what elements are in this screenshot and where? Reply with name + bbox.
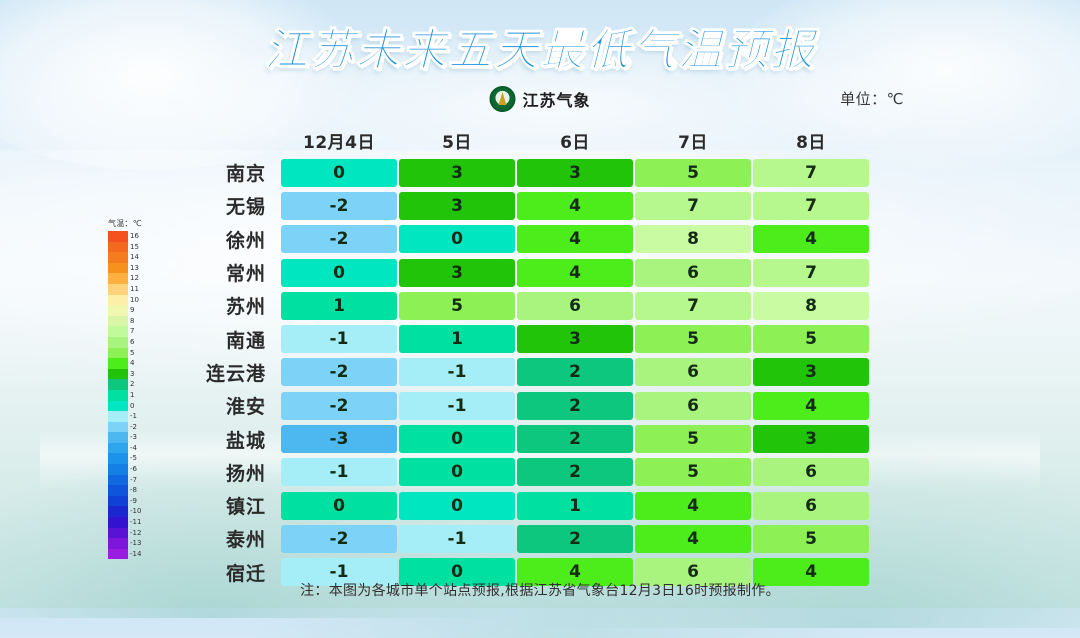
legend-tick-label: 6	[130, 337, 141, 348]
legend-tick-label: -14	[130, 549, 141, 560]
temperature-cell: 0	[281, 159, 397, 187]
brand-logo: 江苏气象	[489, 86, 590, 112]
temperature-color-legend: 气温：℃ 161514131211109876543210-1-2-3-4-5-…	[108, 218, 164, 559]
legend-tick-label: -11	[130, 517, 141, 528]
table-row: 南京03357	[198, 156, 870, 189]
temperature-cell: 1	[281, 292, 397, 320]
temperature-cell: 2	[517, 392, 633, 420]
legend-swatch	[108, 252, 128, 263]
column-header-1: 5日	[398, 128, 516, 153]
temperature-cell: 4	[517, 225, 633, 253]
temperature-cell: 6	[635, 358, 751, 386]
temperature-cell: 8	[635, 225, 751, 253]
legend-swatch	[108, 369, 128, 380]
temperature-cell: 5	[753, 525, 869, 553]
forecast-table: 12月4日 5日 6日 7日 8日 南京03357无锡-23477徐州-2048…	[198, 124, 870, 589]
column-header-0: 12月4日	[280, 128, 398, 153]
legend-swatch	[108, 475, 128, 486]
temperature-cell: 0	[281, 259, 397, 287]
legend-tick-label: 16	[130, 231, 141, 242]
temperature-cell: 6	[753, 492, 869, 520]
legend-swatch	[108, 284, 128, 295]
legend-tick-label: 1	[130, 390, 141, 401]
legend-swatch	[108, 305, 128, 316]
legend-tick-label: 5	[130, 348, 141, 359]
legend-tick-label: 0	[130, 401, 141, 412]
legend-tick-label: -8	[130, 485, 141, 496]
legend-swatch	[108, 326, 128, 337]
table-row: 镇江00146	[198, 489, 870, 522]
table-row: 连云港-2-1263	[198, 356, 870, 389]
temperature-cell: -1	[281, 458, 397, 486]
legend-tick-label: -6	[130, 464, 141, 475]
temperature-cell: 0	[399, 458, 515, 486]
legend-swatch	[108, 464, 128, 475]
legend-body: 161514131211109876543210-1-2-3-4-5-6-7-8…	[108, 231, 164, 559]
temperature-cell: 1	[399, 325, 515, 353]
row-city-label: 苏州	[198, 292, 280, 319]
legend-swatch	[108, 401, 128, 412]
legend-tick-label: -4	[130, 443, 141, 454]
temperature-cell: 3	[517, 325, 633, 353]
temperature-cell: 0	[281, 492, 397, 520]
legend-tick-label: 13	[130, 263, 141, 274]
table-row: 南通-11355	[198, 322, 870, 355]
row-city-label: 南京	[198, 159, 280, 186]
temperature-cell: 0	[399, 492, 515, 520]
legend-labels: 161514131211109876543210-1-2-3-4-5-6-7-8…	[130, 231, 141, 559]
temperature-cell: 4	[517, 259, 633, 287]
temperature-cell: -1	[399, 525, 515, 553]
legend-swatch	[108, 263, 128, 274]
temperature-cell: 4	[635, 525, 751, 553]
table-body: 南京03357无锡-23477徐州-20484常州03467苏州15678南通-…	[198, 156, 870, 589]
temperature-cell: 6	[753, 458, 869, 486]
legend-swatch	[108, 390, 128, 401]
page-title: 江苏未来五天最低气温预报	[0, 14, 1080, 78]
legend-tick-label: 12	[130, 273, 141, 284]
legend-swatch	[108, 549, 128, 560]
legend-tick-label: 3	[130, 369, 141, 380]
row-city-label: 盐城	[198, 426, 280, 453]
temperature-cell: 3	[517, 159, 633, 187]
temperature-cell: 3	[399, 259, 515, 287]
legend-tick-label: -9	[130, 496, 141, 507]
temperature-cell: 4	[753, 225, 869, 253]
legend-tick-label: 2	[130, 379, 141, 390]
table-header-row: 12月4日 5日 6日 7日 8日	[198, 124, 870, 156]
row-city-label: 扬州	[198, 459, 280, 486]
legend-swatch	[108, 422, 128, 433]
temperature-cell: 5	[635, 458, 751, 486]
legend-tick-label: 11	[130, 284, 141, 295]
temperature-cell: -1	[399, 392, 515, 420]
table-row: 无锡-23477	[198, 189, 870, 222]
temperature-cell: -2	[281, 358, 397, 386]
legend-swatch	[108, 273, 128, 284]
temperature-cell: -1	[399, 358, 515, 386]
row-city-label: 徐州	[198, 226, 280, 253]
jiangsu-meteorology-emblem-icon	[489, 86, 515, 112]
legend-swatches	[108, 231, 128, 559]
temperature-cell: 5	[635, 325, 751, 353]
temperature-cell: 3	[753, 425, 869, 453]
temperature-cell: 6	[635, 392, 751, 420]
legend-tick-label: -13	[130, 538, 141, 549]
temperature-cell: 0	[399, 425, 515, 453]
legend-swatch	[108, 538, 128, 549]
legend-tick-label: 14	[130, 252, 141, 263]
table-row: 盐城-30253	[198, 422, 870, 455]
row-city-label: 常州	[198, 259, 280, 286]
row-city-label: 无锡	[198, 192, 280, 219]
unit-label: 单位：℃	[840, 88, 904, 109]
brand-logo-label: 江苏气象	[522, 87, 590, 111]
temperature-cell: 5	[635, 159, 751, 187]
column-header-3: 7日	[634, 128, 752, 153]
table-row: 苏州15678	[198, 289, 870, 322]
temperature-cell: 7	[753, 192, 869, 220]
row-city-label: 南通	[198, 326, 280, 353]
temperature-cell: 0	[399, 225, 515, 253]
row-city-label: 泰州	[198, 525, 280, 552]
temperature-cell: 2	[517, 458, 633, 486]
legend-swatch	[108, 411, 128, 422]
temperature-cell: 3	[753, 358, 869, 386]
legend-swatch	[108, 231, 128, 242]
temperature-cell: -1	[281, 325, 397, 353]
row-city-label: 淮安	[198, 392, 280, 419]
temperature-cell: 3	[399, 192, 515, 220]
row-city-label: 镇江	[198, 492, 280, 519]
legend-swatch	[108, 337, 128, 348]
temperature-cell: 2	[517, 358, 633, 386]
legend-swatch	[108, 517, 128, 528]
legend-tick-label: 10	[130, 295, 141, 306]
legend-tick-label: -10	[130, 506, 141, 517]
legend-tick-label: -3	[130, 432, 141, 443]
legend-tick-label: -7	[130, 475, 141, 486]
legend-swatch	[108, 242, 128, 253]
column-header-2: 6日	[516, 128, 634, 153]
legend-swatch	[108, 528, 128, 539]
legend-tick-label: -1	[130, 411, 141, 422]
temperature-cell: -2	[281, 192, 397, 220]
legend-swatch	[108, 358, 128, 369]
temperature-cell: 7	[753, 159, 869, 187]
legend-tick-label: 8	[130, 316, 141, 327]
temperature-cell: 1	[517, 492, 633, 520]
temperature-cell: 7	[635, 192, 751, 220]
temperature-cell: 2	[517, 425, 633, 453]
legend-swatch	[108, 453, 128, 464]
legend-swatch	[108, 443, 128, 454]
legend-tick-label: 4	[130, 358, 141, 369]
temperature-cell: 5	[753, 325, 869, 353]
temperature-cell: 3	[399, 159, 515, 187]
legend-swatch	[108, 496, 128, 507]
legend-title: 气温：℃	[108, 218, 164, 229]
legend-swatch	[108, 432, 128, 443]
legend-swatch	[108, 506, 128, 517]
temperature-cell: 5	[635, 425, 751, 453]
temperature-cell: -2	[281, 392, 397, 420]
temperature-cell: 2	[517, 525, 633, 553]
temperature-cell: -3	[281, 425, 397, 453]
footnote: 注：本图为各城市单个站点预报,根据江苏省气象台12月3日16时预报制作。	[0, 580, 1080, 600]
temperature-cell: 6	[635, 259, 751, 287]
legend-tick-label: 7	[130, 326, 141, 337]
column-header-4: 8日	[752, 128, 870, 153]
legend-tick-label: 9	[130, 305, 141, 316]
temperature-cell: 4	[517, 192, 633, 220]
temperature-cell: 4	[635, 492, 751, 520]
temperature-cell: 6	[517, 292, 633, 320]
legend-swatch	[108, 485, 128, 496]
row-city-label: 连云港	[198, 359, 280, 386]
legend-swatch	[108, 379, 128, 390]
temperature-cell: 7	[753, 259, 869, 287]
table-row: 常州03467	[198, 256, 870, 289]
table-row: 淮安-2-1264	[198, 389, 870, 422]
temperature-cell: 5	[399, 292, 515, 320]
legend-swatch	[108, 295, 128, 306]
legend-tick-label: -2	[130, 422, 141, 433]
temperature-cell: 8	[753, 292, 869, 320]
temperature-cell: -2	[281, 525, 397, 553]
table-row: 扬州-10256	[198, 456, 870, 489]
temperature-cell: 7	[635, 292, 751, 320]
table-row: 徐州-20484	[198, 223, 870, 256]
legend-tick-label: -12	[130, 528, 141, 539]
legend-tick-label: 15	[130, 242, 141, 253]
legend-swatch	[108, 348, 128, 359]
legend-swatch	[108, 316, 128, 327]
table-row: 泰州-2-1245	[198, 522, 870, 555]
temperature-cell: 4	[753, 392, 869, 420]
legend-tick-label: -5	[130, 453, 141, 464]
logo-row: 江苏气象	[0, 86, 1080, 116]
temperature-cell: -2	[281, 225, 397, 253]
